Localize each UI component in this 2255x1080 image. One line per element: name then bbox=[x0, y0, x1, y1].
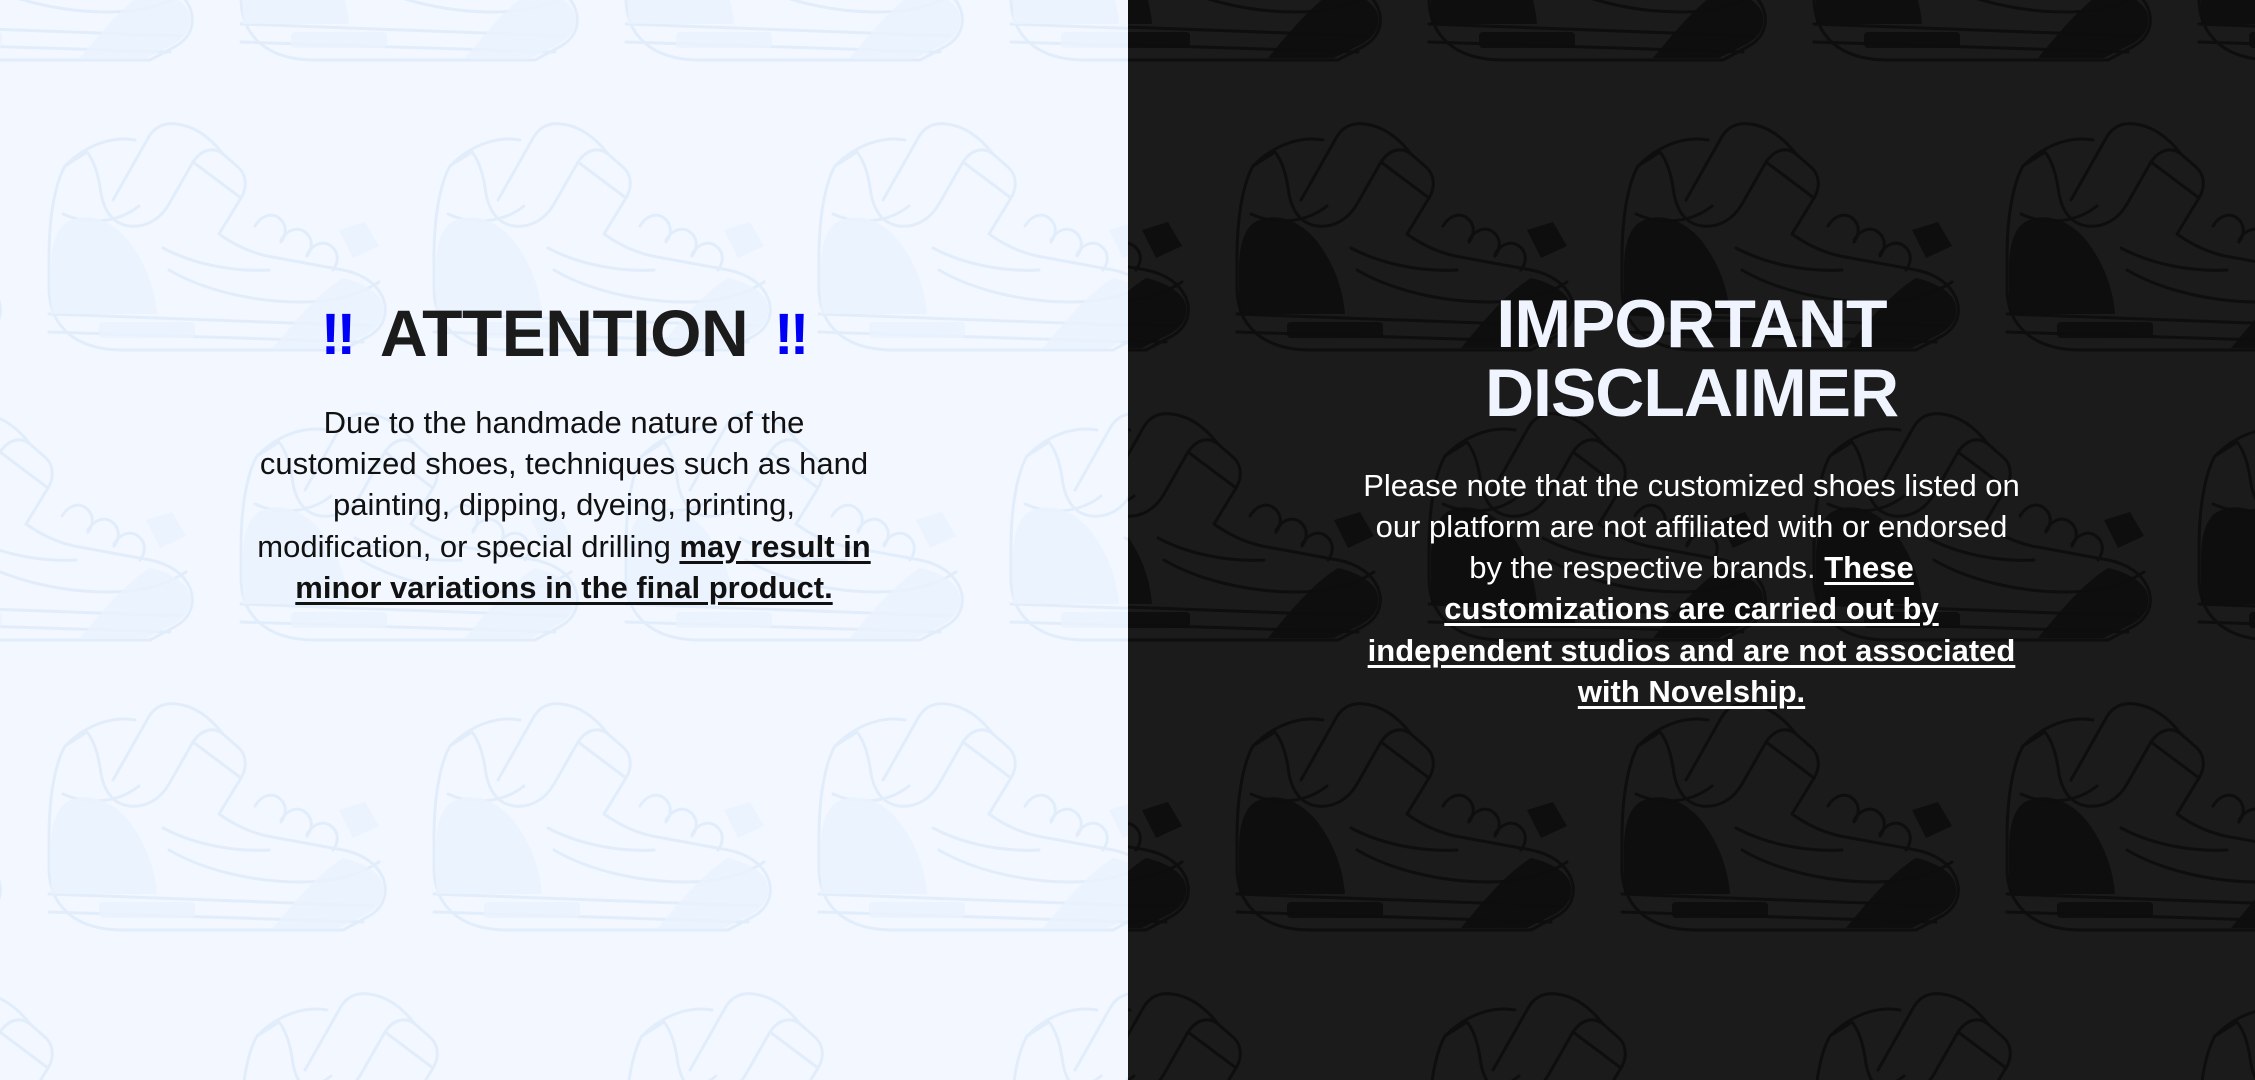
disclaimer-body-plain: Please note that the customized shoes li… bbox=[1363, 468, 2020, 585]
double-exclamation-icon-right: ‼ bbox=[774, 302, 807, 367]
disclaimer-heading: IMPORTANT DISCLAIMER bbox=[1128, 290, 2255, 429]
disclaimer-heading-line1: IMPORTANT bbox=[1128, 290, 2255, 359]
double-exclamation-icon-left: ‼ bbox=[321, 302, 354, 367]
disclaimer-content: IMPORTANT DISCLAIMER Please note that th… bbox=[1128, 290, 2255, 712]
attention-heading: ‼ATTENTION‼ bbox=[0, 300, 1128, 366]
attention-heading-text: ATTENTION bbox=[380, 296, 748, 370]
attention-content: ‼ATTENTION‼ Due to the handmade nature o… bbox=[0, 300, 1128, 608]
attention-body: Due to the handmade nature of the custom… bbox=[244, 402, 884, 608]
attention-panel: ‼ATTENTION‼ Due to the handmade nature o… bbox=[0, 0, 1128, 1080]
disclaimer-body: Please note that the customized shoes li… bbox=[1362, 465, 2022, 712]
disclaimer-heading-line2: DISCLAIMER bbox=[1128, 359, 2255, 428]
disclaimer-panel: IMPORTANT DISCLAIMER Please note that th… bbox=[1128, 0, 2255, 1080]
disclaimer-banner: ‼ATTENTION‼ Due to the handmade nature o… bbox=[0, 0, 2255, 1080]
